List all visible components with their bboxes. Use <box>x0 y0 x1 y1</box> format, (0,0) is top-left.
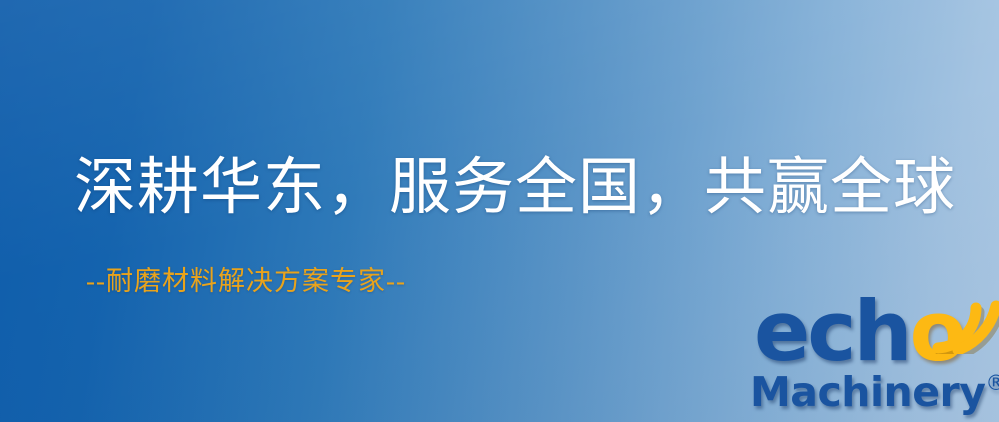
logo-tagline-word: Machinery <box>750 368 985 416</box>
banner-subtitle: --耐磨材料解决方案专家-- <box>86 264 406 298</box>
logo-tagline-machinery: Machinery® <box>750 372 999 413</box>
registered-trademark-icon: ® <box>985 371 999 395</box>
echo-machinery-logo[interactable]: echo Machinery® <box>744 296 996 422</box>
promotional-banner: 深耕华东，服务全国，共赢全球 --耐磨材料解决方案专家-- echo Machi… <box>0 0 999 422</box>
logo-wordmark-ech: ech <box>754 283 910 380</box>
signal-waves-icon <box>920 292 999 354</box>
banner-headline: 深耕华东，服务全国，共赢全球 <box>74 150 956 226</box>
logo-wordmark-row: echo <box>750 296 996 378</box>
